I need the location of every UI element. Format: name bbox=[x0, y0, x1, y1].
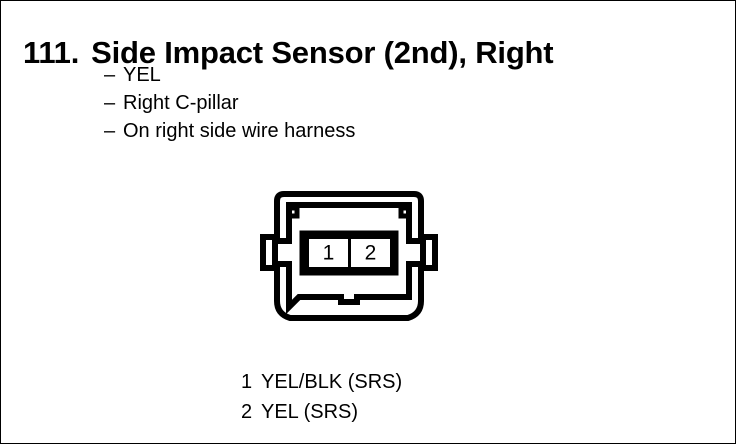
page-title-number: 111. bbox=[23, 34, 79, 72]
pin-cavity-2-label: 2 bbox=[365, 242, 377, 265]
pin-legend-number: 1 bbox=[241, 367, 261, 397]
connector-body-svg: 1 2 bbox=[247, 185, 451, 335]
diagram-page: 111.Side Impact Sensor (2nd), Right – YE… bbox=[0, 0, 736, 444]
pin-legend-description: YEL (SRS) bbox=[261, 397, 358, 427]
dash-bullet-icon: – bbox=[104, 61, 123, 89]
pin-legend-row: 2 YEL (SRS) bbox=[241, 397, 561, 427]
pin-cavity-1-label: 1 bbox=[323, 242, 335, 265]
spec-item-label: Right C-pillar bbox=[123, 89, 239, 117]
pin-legend-row: 1 YEL/BLK (SRS) bbox=[241, 367, 561, 397]
pin-legend-description: YEL/BLK (SRS) bbox=[261, 367, 402, 397]
spec-list: – YEL – Right C-pillar – On right side w… bbox=[104, 61, 524, 145]
pin-legend: 1 YEL/BLK (SRS) 2 YEL (SRS) bbox=[241, 367, 561, 427]
list-item: – Right C-pillar bbox=[104, 89, 524, 117]
dash-bullet-icon: – bbox=[104, 117, 123, 145]
list-item: – YEL bbox=[104, 61, 524, 89]
pin-legend-number: 2 bbox=[241, 397, 261, 427]
header: 111.Side Impact Sensor (2nd), Right bbox=[1, 13, 736, 53]
spec-item-label: On right side wire harness bbox=[123, 117, 355, 145]
spec-item-label: YEL bbox=[123, 61, 161, 89]
dash-bullet-icon: – bbox=[104, 89, 123, 117]
connector-diagram: 1 2 bbox=[247, 185, 451, 335]
list-item: – On right side wire harness bbox=[104, 117, 524, 145]
